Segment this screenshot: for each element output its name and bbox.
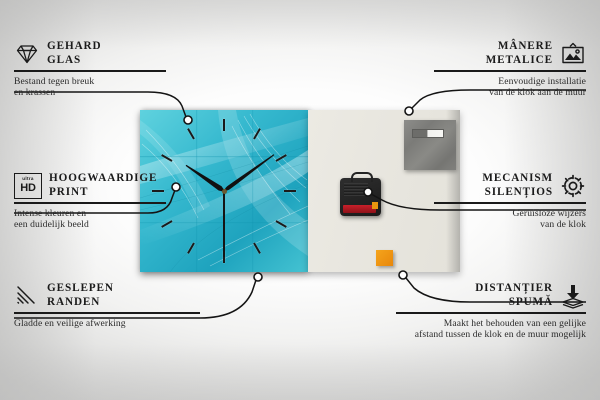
hd-icon-main-label: HD [20,183,36,194]
callout-title: HOOGWAARDIGE PRINT [49,172,157,199]
infographic-canvas: GEHARD GLAS Bestand tegen breuk en krass… [0,0,600,400]
callout-body: Eenvoudige installatie van de klok aan d… [434,76,586,99]
ultra-hd-icon: ultra HD [14,173,42,199]
picture-frame-icon [560,41,586,67]
foam-spacer [376,250,393,266]
callout-title: GESLEPEN RANDEN [47,282,114,309]
clock-mechanism [340,178,381,216]
callout-body: Intense kleuren en een duidelijk beeld [14,208,166,231]
gear-icon [560,173,586,199]
callout-title: GEHARD GLAS [47,40,102,67]
callout-rule [396,312,586,314]
metal-mounting-plate [404,120,456,170]
callout-hoogwaardige-print: ultra HD HOOGWAARDIGE PRINT Intense kleu… [14,172,166,231]
mechanism-hook [351,172,373,182]
callout-title: MÂNERE METALICE [486,40,553,67]
callout-rule [434,202,586,204]
callout-manere-metalice: MÂNERE METALICE Eenvoudige installatie v… [434,40,586,99]
callout-rule [14,312,200,314]
plate-slot [412,129,444,138]
callout-gehard-glas: GEHARD GLAS Bestand tegen breuk en krass… [14,40,166,99]
callout-distantier-spuma: DISTANȚIER SPUMĂ Maakt het behouden van … [396,282,586,341]
callout-rule [14,202,166,204]
clock-center-hub [222,189,227,194]
callout-body: Geruisloze wijzers van de klok [434,208,586,231]
callout-title: MECANISM SILENȚIOS [482,172,553,199]
diamond-icon [14,41,40,67]
callout-body: Maakt het behouden van een gelijke afsta… [396,318,586,341]
callout-rule [14,70,166,72]
callout-rule [434,70,586,72]
callout-geslepen-randen: GESLEPEN RANDEN Gladde en veilige afwerk… [14,282,200,329]
spacer-arrow-icon [560,283,586,309]
polished-edges-icon [14,283,40,309]
battery [343,205,376,213]
callout-mecanism-silentios: MECANISM SILENȚIOS Geruisloze wijzers va… [434,172,586,231]
callout-body: Gladde en veilige afwerking [14,318,200,330]
callout-body: Bestand tegen breuk en krassen [14,76,166,99]
callout-title: DISTANȚIER SPUMĂ [475,282,553,309]
mechanism-grill [344,183,368,196]
